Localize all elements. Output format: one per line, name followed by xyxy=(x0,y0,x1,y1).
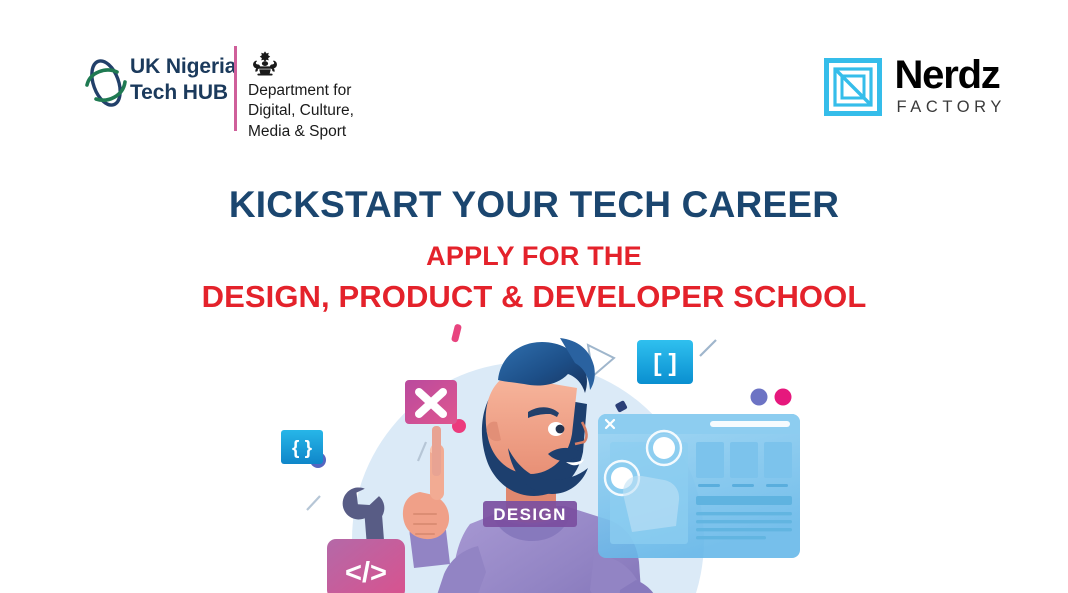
hoodie-design-label: DESIGN xyxy=(483,501,577,527)
code-badge: </> xyxy=(327,539,405,593)
uk-nigeria-line-2: Tech HUB xyxy=(130,80,236,106)
designer-developer-illustration: { } [ ] </> xyxy=(0,318,1068,593)
browser-window-mockup xyxy=(598,414,800,558)
svg-text:DESIGN: DESIGN xyxy=(493,505,567,524)
brackets-badge-left: { } xyxy=(281,430,323,464)
nerdz-name: Nerdz xyxy=(894,56,1006,95)
svg-text:[ ]: [ ] xyxy=(653,349,677,377)
uk-nigeria-tech-hub-logo: UK Nigeria Tech HUB xyxy=(84,52,236,112)
brackets-badge-right: [ ] xyxy=(637,340,693,384)
svg-text:{ }: { } xyxy=(292,438,313,459)
nerdz-wordmark: Nerdz FACTORY xyxy=(894,56,1006,117)
dcms-line-2: Digital, Culture, xyxy=(248,101,354,121)
dcms-divider xyxy=(234,46,237,131)
logo-bar: UK Nigeria Tech HUB xyxy=(0,46,1068,142)
headline-tertiary: DESIGN, PRODUCT & DEVELOPER SCHOOL xyxy=(0,279,1068,316)
uk-nigeria-line-1: UK Nigeria xyxy=(130,54,236,80)
poster-canvas: UK Nigeria Tech HUB xyxy=(0,0,1068,593)
dcms-logo: Department for Digital, Culture, Media &… xyxy=(234,46,354,142)
swirl-ellipse-icon xyxy=(84,56,128,112)
dcms-line-1: Department for xyxy=(248,81,354,101)
dcms-content: Department for Digital, Culture, Media &… xyxy=(248,46,354,142)
nerdz-square-icon xyxy=(824,58,882,116)
dot-magenta xyxy=(775,389,792,406)
royal-crest-icon xyxy=(249,50,281,76)
dcms-line-3: Media & Sport xyxy=(248,122,354,142)
nerdz-factory-logo: Nerdz FACTORY xyxy=(824,56,1006,117)
dot-periwinkle xyxy=(751,389,768,406)
headline-secondary: APPLY FOR THE xyxy=(0,241,1068,273)
uk-nigeria-wordmark: UK Nigeria Tech HUB xyxy=(130,54,236,105)
headline-primary: KICKSTART YOUR TECH CAREER xyxy=(0,184,1068,227)
svg-text:</>: </> xyxy=(345,557,387,589)
headline-block: KICKSTART YOUR TECH CAREER APPLY FOR THE… xyxy=(0,184,1068,315)
nerdz-subtitle: FACTORY xyxy=(896,98,1006,117)
